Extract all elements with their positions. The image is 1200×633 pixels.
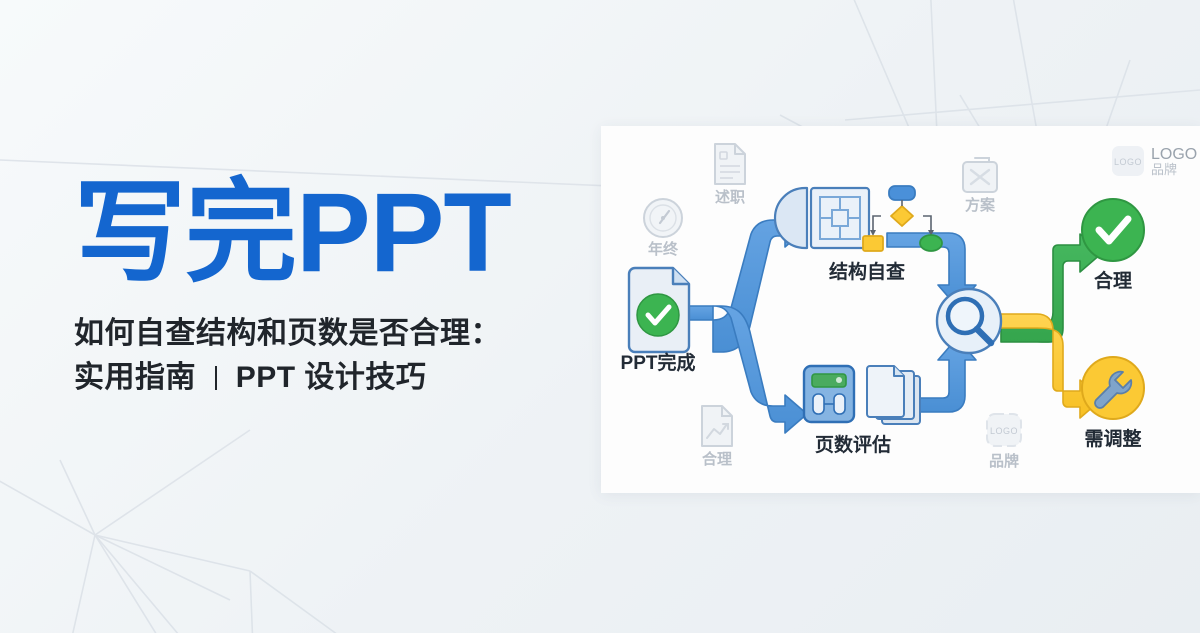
wm-fangan-label: 方案 — [965, 196, 996, 214]
logo-badge-subtitle: 品牌 — [1151, 162, 1177, 177]
wrench-circle-icon — [1082, 357, 1144, 419]
page-subtitle: 如何自查结构和页数是否合理： 实用指南 PPT 设计技巧 — [74, 312, 594, 399]
wm-shuzhi-label: 述职 — [715, 188, 745, 206]
wm-pinpai-label: 品牌 — [989, 452, 1019, 470]
gauge-icon — [644, 199, 682, 237]
wm-shuzhi-watermark: 述职 — [715, 144, 745, 206]
magnifier-icon — [937, 289, 1001, 353]
wm-heli-label: 合理 — [701, 450, 732, 468]
wm-nianzhong-watermark: 年终 — [644, 199, 682, 258]
poster-canvas: 写完PPT 如何自查结构和页数是否合理： 实用指南 PPT 设计技巧 — [0, 0, 1200, 633]
flow-diagram: 述职 年终 方案 — [601, 126, 1200, 493]
subtitle-line-2: 实用指南 PPT 设计技巧 — [74, 356, 594, 400]
poster-copy-block: 写完PPT 如何自查结构和页数是否合理： 实用指南 PPT 设计技巧 — [74, 176, 594, 399]
subtitle-line-1: 如何自查结构和页数是否合理： — [74, 317, 501, 350]
chart-doc-icon — [702, 406, 732, 446]
check-circle-icon — [1082, 199, 1144, 261]
briefcase-icon — [963, 158, 997, 192]
wm-fangan-watermark: 方案 — [963, 158, 997, 214]
subtitle-right: PPT 设计技巧 — [236, 361, 427, 394]
diagram-card: 述职 年终 方案 — [601, 126, 1200, 493]
wm-heli-watermark: 合理 — [701, 406, 732, 468]
wm-pinpai-watermark: LOGO 品牌 — [987, 414, 1021, 470]
calculator-pages-icon — [804, 366, 920, 424]
subtitle-left: 实用指南 — [74, 361, 196, 394]
node-structure-label: 结构自查 — [829, 260, 906, 283]
node-ppt-done-label: PPT完成 — [621, 351, 696, 374]
node-needs-adjust-label: 需调整 — [1084, 427, 1141, 450]
node-ppt-done: PPT完成 — [621, 268, 696, 374]
logo-badge-mark: LOGO — [1114, 157, 1142, 167]
logo-badge: LOGO LOGO 品牌 — [1112, 146, 1197, 177]
node-page-count-label: 页数评估 — [815, 433, 891, 456]
document-check-icon — [629, 268, 689, 352]
logo-square-icon: LOGO — [987, 414, 1021, 446]
node-review — [937, 289, 1001, 353]
node-reasonable-label: 合理 — [1094, 269, 1132, 292]
node-page-count: 页数评估 — [804, 366, 920, 456]
subtitle-divider — [215, 366, 217, 390]
node-reasonable: 合理 — [1082, 199, 1144, 292]
node-needs-adjust: 需调整 — [1082, 357, 1144, 450]
logo-badge-title: LOGO — [1151, 146, 1197, 163]
page-title: 写完PPT — [74, 176, 594, 290]
wm-nianzhong-label: 年终 — [648, 240, 679, 258]
svg-text:LOGO: LOGO — [990, 426, 1018, 436]
